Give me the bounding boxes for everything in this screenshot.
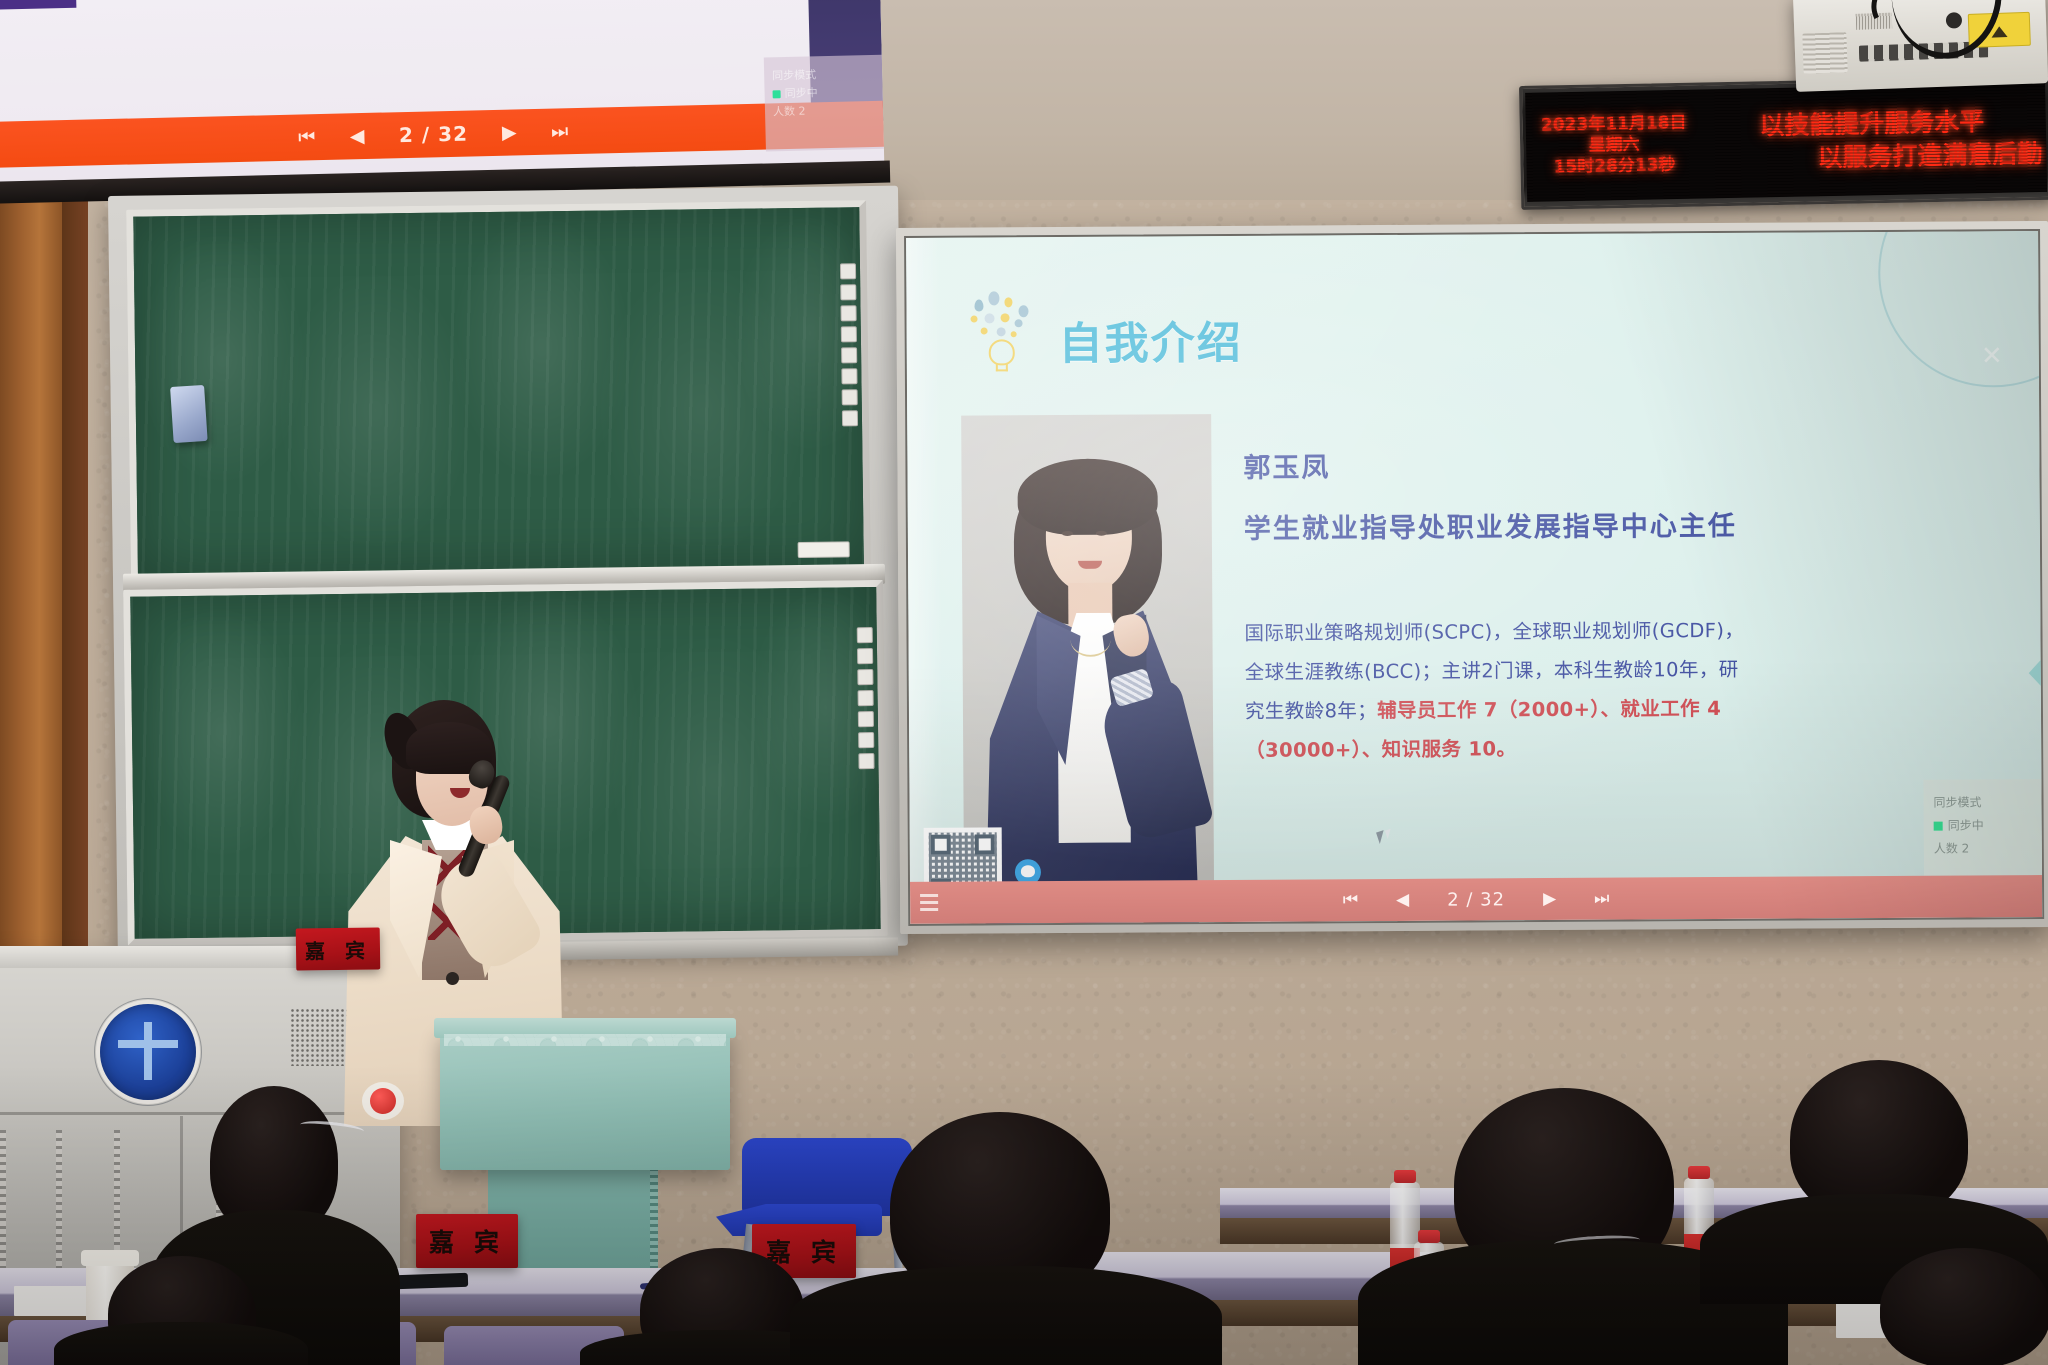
left-overlay-mode: 同步模式 — [772, 65, 874, 86]
board-button-lower-icon-2[interactable] — [857, 648, 873, 664]
bottle-cap-icon-4 — [1688, 1166, 1710, 1179]
slide-arc-decoration — [1878, 229, 2045, 388]
left-monitor-purple-block — [0, 0, 76, 10]
cup-lid — [81, 1250, 139, 1266]
slide-triangle-decoration — [2029, 645, 2045, 701]
led-slogan-block: 以技能提升服务水平 以服务打造满意后勤 — [1701, 83, 2047, 199]
bio-line-1: 国际职业策略规划师(SCPC)，全球职业规划师(GCDF)， — [1244, 619, 1744, 645]
projection-screen-frame: ✕ — [896, 221, 2048, 934]
speaker-position: 学生就业指导处职业发展指导中心主任 — [1244, 503, 1824, 546]
presenter-coat-button-1 — [446, 972, 459, 985]
bio-line-4-highlight: （30000+）、知识服务 10。 — [1245, 737, 1516, 762]
left-nav-last-icon[interactable]: ⏭ — [551, 120, 569, 142]
lecture-hall-scene: ⏮ ◀ 2 / 32 ▶ ⏭ 同步模式 同步中 人数 2 2023年11月18日… — [0, 0, 2048, 1365]
audience-head-7 — [1880, 1248, 2048, 1365]
left-overlay-status: 同步中 — [772, 83, 874, 104]
university-emblem-ring — [94, 998, 202, 1106]
chalkboard-label-tag — [798, 541, 850, 558]
placard-1-char-2: 宾 — [345, 934, 371, 963]
led-time: 15时28分13秒 — [1553, 155, 1675, 178]
qr-finder-icon-tr — [975, 834, 995, 854]
smartphone-on-desk[interactable] — [396, 1273, 468, 1290]
board-button-icon-1[interactable] — [840, 263, 856, 279]
mouse-cursor-icon — [1376, 830, 1387, 844]
led-slogan-line-2: 以服务打造满意后勤 — [1702, 137, 2043, 176]
speaker-bio: 国际职业策略规划师(SCPC)，全球职业规划师(GCDF)， 全球生涯教练(BC… — [1244, 610, 1825, 770]
left-monitor-sync-overlay: 同步模式 同步中 人数 2 — [764, 55, 884, 152]
sync-status-overlay: 同步模式 同步中 人数 2 — [1923, 779, 2042, 876]
led-date: 2023年11月18日 — [1541, 113, 1687, 137]
placard-2-char-2: 宾 — [474, 1223, 505, 1259]
board-button-lower-icon-1[interactable] — [857, 627, 873, 643]
placard-1-char-1: 嘉 — [305, 935, 331, 964]
portrait-eye-right — [1096, 531, 1107, 536]
board-button-icon-3[interactable] — [840, 305, 856, 321]
audience-shoulders-4 — [790, 1266, 1222, 1365]
slide-left-highlight — [906, 238, 944, 924]
slide-nav-bar[interactable]: ⏮ ◀ 2 / 32 ▶ ⏭ — [910, 875, 2042, 924]
sync-people-count: 人数 2 — [1934, 837, 2032, 860]
nav-page-indicator: 2 / 32 — [1447, 889, 1505, 910]
led-weekday: 星期六 — [1588, 135, 1639, 157]
placard-2-char-1: 嘉 — [429, 1223, 460, 1259]
lightbulb-idea-icon — [962, 289, 1043, 375]
left-nav-first-icon[interactable]: ⏮ — [298, 126, 316, 148]
board-button-icon-6[interactable] — [841, 368, 857, 384]
nav-next-button[interactable]: ▶ — [1543, 889, 1556, 909]
nav-last-button[interactable]: ⏭ — [1594, 889, 1609, 909]
sync-status-dot — [773, 90, 781, 98]
bio-line-2: 全球生涯教练(BCC)；主讲2门课，本科生教龄10年，研 — [1245, 658, 1739, 684]
bio-line-3-plain: 究生教龄8年； — [1245, 699, 1377, 723]
left-nav-prev-icon[interactable]: ◀ — [350, 125, 366, 147]
nav-first-button[interactable]: ⏮ — [1343, 890, 1358, 910]
left-monitor-nav-bar[interactable]: ⏮ ◀ 2 / 32 ▶ ⏭ — [0, 101, 884, 168]
wood-pillar-shadow — [62, 96, 88, 1026]
clicker-red-button-icon[interactable] — [370, 1088, 396, 1114]
board-button-icon-4[interactable] — [841, 326, 857, 342]
chalkboard-control-strip-lower[interactable] — [857, 627, 875, 769]
speaker-name: 郭玉凤 — [1243, 442, 1823, 485]
board-button-icon-2[interactable] — [840, 284, 856, 300]
lectern-desk — [440, 1030, 730, 1170]
board-button-lower-icon-5[interactable] — [858, 711, 874, 727]
led-information-sign: 2023年11月18日 星期六 15时28分13秒 以技能提升服务水平 以服务打… — [1519, 76, 2048, 210]
nav-prev-button[interactable]: ◀ — [1396, 890, 1409, 910]
projector-vent-icon — [1802, 32, 1847, 74]
slide-x-decoration: ✕ — [1981, 341, 2003, 371]
portrait-eye-left — [1062, 531, 1073, 536]
board-button-lower-icon-4[interactable] — [858, 690, 874, 706]
board-button-lower-icon-3[interactable] — [857, 669, 873, 685]
guest-placard-1: 嘉宾 — [296, 927, 381, 970]
slide-menu-icon[interactable] — [920, 894, 938, 914]
slide-header: 自我介绍 — [962, 288, 1243, 376]
audience-shoulders-2 — [54, 1322, 308, 1365]
placard-3-char-2: 宾 — [811, 1233, 842, 1269]
board-button-icon-8[interactable] — [842, 410, 858, 426]
left-overlay-count: 人数 2 — [773, 101, 875, 122]
board-button-icon-7[interactable] — [842, 389, 858, 405]
board-button-lower-icon-7[interactable] — [858, 753, 874, 769]
portrait-hair-front — [1017, 458, 1157, 535]
chalkboard-eraser[interactable] — [170, 385, 208, 443]
slide-title: 自我介绍 — [1059, 322, 1243, 375]
projection-screen[interactable]: ✕ — [904, 229, 2044, 926]
led-sign-screen: 2023年11月18日 星期六 15时28分13秒 以技能提升服务水平 以服务打… — [1525, 83, 2047, 202]
sync-status-row: 同步中 — [1934, 814, 2032, 837]
ceiling-projector — [1793, 0, 2048, 92]
bio-line-3-highlight: 辅导员工作 7（2000+）、就业工作 4 — [1377, 697, 1721, 722]
left-nav-page-indicator: 2 / 32 — [399, 122, 469, 148]
bottle-cap-icon-2 — [1418, 1230, 1440, 1243]
chalk-smudges — [133, 207, 864, 574]
chalkboard-upper-panel — [126, 200, 871, 582]
lectern-rivets — [452, 1035, 720, 1043]
presentation-slide: ✕ — [906, 231, 2042, 924]
chalkboard-control-strip-upper[interactable] — [840, 263, 858, 426]
board-button-icon-5[interactable] — [841, 347, 857, 363]
board-button-lower-icon-6[interactable] — [858, 732, 874, 748]
led-datetime-block: 2023年11月18日 星期六 15时28分13秒 — [1525, 90, 1703, 202]
qr-finder-icon-tl — [931, 835, 951, 855]
bottle-cap-icon-1 — [1394, 1170, 1416, 1183]
slide-body-text: 郭玉凤 学生就业指导处职业发展指导中心主任 国际职业策略规划师(SCPC)，全球… — [1243, 442, 1825, 770]
portrait-necklace — [1070, 623, 1110, 657]
guest-placard-2: 嘉宾 — [416, 1214, 518, 1268]
sync-indicator-dot-icon — [1934, 821, 1943, 830]
sync-mode-label: 同步模式 — [1933, 791, 2031, 814]
left-nav-next-icon[interactable]: ▶ — [502, 121, 518, 143]
